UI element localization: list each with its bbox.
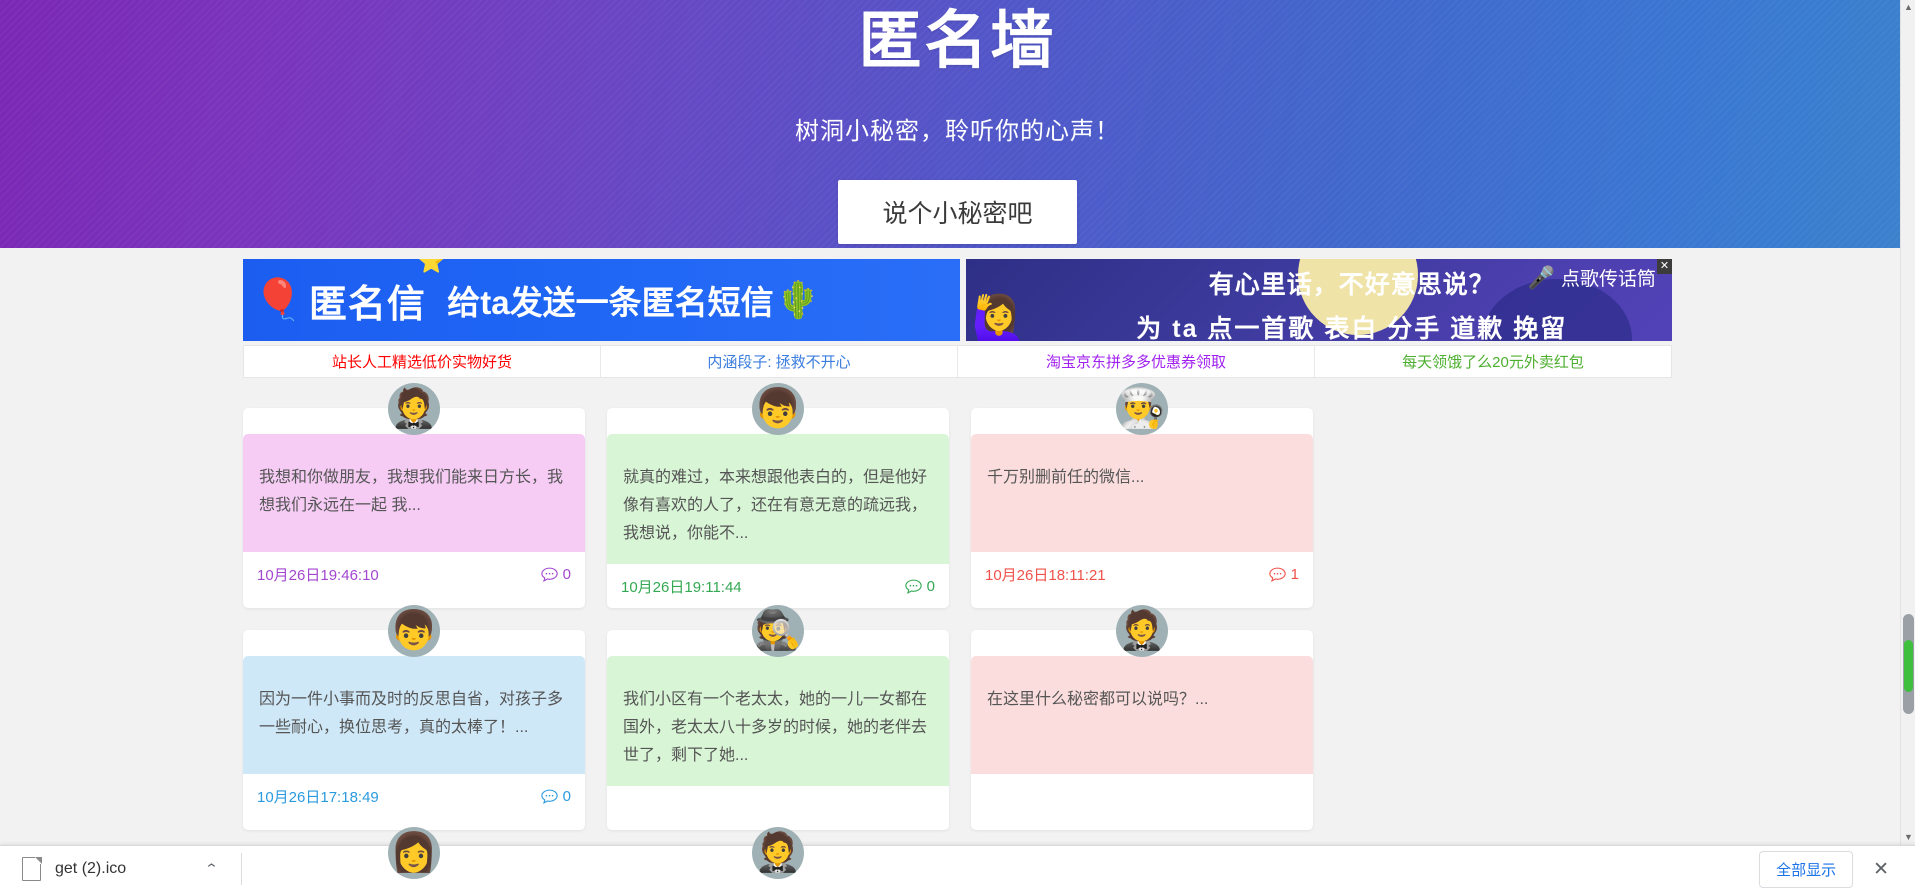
secret-card-text: 千万别删前任的微信... — [971, 434, 1313, 552]
star-icon: ⭐ — [418, 259, 445, 275]
man-sunglasses-avatar: 🕵️ — [752, 605, 804, 657]
ad-slogan-label: 给ta发送一条匿名短信 — [447, 276, 773, 324]
secret-card-timestamp: 10月26日18:11:21 — [985, 564, 1106, 585]
ad-brand-label: 匿名信 — [309, 273, 426, 328]
secret-card-grid: 🤵 我想和你做朋友，我想我们能来日方长，我想我们永远在一起 我...10月26日… — [243, 408, 1676, 892]
post-secret-button[interactable]: 说个小秘密吧 — [838, 180, 1076, 244]
man-bowtie-avatar: 🤵 — [388, 383, 440, 435]
secret-card-footer: 10月26日19:11:440 — [607, 564, 949, 608]
ad-mic-group: 🎤 点歌传话筒 — [1528, 264, 1656, 291]
close-download-bar-icon[interactable]: ✕ — [1867, 856, 1895, 883]
secret-card-timestamp: 10月26日19:11:44 — [621, 576, 742, 597]
show-all-downloads-button[interactable]: 全部显示 — [1759, 851, 1853, 888]
download-bar-actions: 全部显示 ✕ — [1759, 851, 1915, 888]
download-bar: get (2).ico ⌃ 全部显示 ✕ — [0, 845, 1915, 892]
secret-card[interactable]: 🤵 我想和你做朋友，我想我们能来日方长，我想我们永远在一起 我...10月26日… — [243, 408, 585, 608]
parachute-mail-icon: 🎈 — [253, 280, 303, 320]
ad-banner-song-dedication[interactable]: 🙋‍♀️ 有心里话，不好意思说？ 为 ta 点一首歌 表白 分手 道歉 挽留 🎤… — [966, 259, 1673, 341]
download-bar-divider — [241, 853, 242, 885]
page-subtitle: 树洞小秘密，聆听你的心声！ — [0, 111, 1915, 146]
chevron-up-icon[interactable]: ⌃ — [204, 861, 219, 877]
download-item[interactable]: get (2).ico ⌃ — [0, 846, 217, 892]
secret-card-footer — [607, 786, 949, 830]
secret-card-text: 我们小区有一个老太太，她的一儿一女都在国外，老太太八十多岁的时候，她的老伴去世了… — [607, 656, 949, 786]
comment-count: 0 — [927, 578, 935, 595]
ad-close-icon[interactable]: ✕ — [1657, 259, 1672, 274]
ad-banner-row: 🎈 匿名信 ⭐ 给ta发送一条匿名短信 🌵 🙋‍♀️ 有心里话，不好意思说？ 为… — [243, 259, 1672, 341]
ad-link-2[interactable]: 内涵段子: 拯救不开心 — [601, 346, 958, 377]
secret-card-text: 在这里什么秘密都可以说吗？... — [971, 656, 1313, 774]
ad-link-3[interactable]: 淘宝京东拼多多优惠券领取 — [958, 346, 1315, 377]
ad-link-4-label: 每天领饿了么20元外卖红包 — [1402, 351, 1584, 372]
comment-count-group[interactable]: 0 — [541, 566, 571, 583]
comment-count: 0 — [563, 788, 571, 805]
ad-link-1-label: 站长人工精选低价实物好货 — [332, 351, 512, 372]
secret-card-text: 就真的难过，本来想跟他表白的，但是他好像有喜欢的人了，还在有意无意的疏远我，我想… — [607, 434, 949, 564]
man-bowtie-avatar: 🤵 — [1116, 605, 1168, 657]
ad-subline: 为 ta 点一首歌 表白 分手 道歉 挽留 — [1042, 309, 1663, 341]
cactus-icon: 🌵 — [776, 279, 821, 321]
ad-link-4[interactable]: 每天领饿了么20元外卖红包 — [1315, 346, 1671, 377]
comment-count: 0 — [563, 566, 571, 583]
secret-card-footer — [971, 774, 1313, 818]
download-file-name: get (2).ico — [55, 860, 126, 878]
chef-avatar: 👨‍🍳 — [1116, 383, 1168, 435]
ad-link-row: 站长人工精选低价实物好货 内涵段子: 拯救不开心 淘宝京东拼多多优惠券领取 每天… — [243, 345, 1672, 378]
ad-zone: 🎈 匿名信 ⭐ 给ta发送一条匿名短信 🌵 🙋‍♀️ 有心里话，不好意思说？ 为… — [243, 259, 1672, 378]
comment-count-group[interactable]: 0 — [905, 578, 935, 595]
woman-avatar: 👩 — [388, 827, 440, 879]
page-root: 匿名墙 树洞小秘密，聆听你的心声！ 说个小秘密吧 🎈 匿名信 ⭐ 给ta发送一条… — [0, 0, 1915, 892]
ad-link-3-label: 淘宝京东拼多多优惠券领取 — [1046, 351, 1226, 372]
secret-card[interactable]: 🕵️我们小区有一个老太太，她的一儿一女都在国外，老太太八十多岁的时候，她的老伴去… — [607, 630, 949, 830]
scroll-down-arrow-icon[interactable]: ▼ — [1901, 830, 1915, 845]
ad-banner-anonymous-letter[interactable]: 🎈 匿名信 ⭐ 给ta发送一条匿名短信 🌵 — [243, 259, 960, 341]
comment-count-group[interactable]: 0 — [541, 788, 571, 805]
ad-link-1[interactable]: 站长人工精选低价实物好货 — [244, 346, 601, 377]
ad-link-2-label: 内涵段子: 拯救不开心 — [707, 351, 850, 372]
comment-bubble-icon — [1269, 567, 1286, 582]
secret-card[interactable]: 👦就真的难过，本来想跟他表白的，但是他好像有喜欢的人了，还在有意无意的疏远我，我… — [607, 408, 949, 608]
secret-card[interactable]: 🤵在这里什么秘密都可以说吗？... — [971, 630, 1313, 830]
comment-bubble-icon — [541, 567, 558, 582]
man-bowtie-avatar: 🤵 — [752, 827, 804, 879]
comment-bubble-icon — [905, 579, 922, 594]
secret-card-text: 我想和你做朋友，我想我们能来日方长，我想我们永远在一起 我... — [243, 434, 585, 552]
secret-card-footer: 10月26日18:11:211 — [971, 552, 1313, 596]
boy-avatar: 👦 — [388, 605, 440, 657]
comment-count: 1 — [1291, 566, 1299, 583]
secret-card[interactable]: 👨‍🍳千万别删前任的微信...10月26日18:11:211 — [971, 408, 1313, 608]
secret-card-timestamp: 10月26日19:46:10 — [257, 564, 379, 585]
secret-card-footer: 10月26日19:46:100 — [243, 552, 585, 596]
microphone-icon: 🎤 — [1528, 265, 1555, 291]
file-icon — [22, 857, 41, 881]
comment-bubble-icon — [541, 789, 558, 804]
scrollbar-find-marker — [1904, 640, 1913, 692]
hero-header: 匿名墙 树洞小秘密，聆听你的心声！ 说个小秘密吧 — [0, 0, 1915, 248]
secret-card-timestamp: 10月26日17:18:49 — [257, 786, 379, 807]
comment-count-group[interactable]: 1 — [1269, 566, 1299, 583]
secret-card-footer: 10月26日17:18:490 — [243, 774, 585, 818]
secret-card-text: 因为一件小事而及时的反思自省，对孩子多一些耐心，换位思考，真的太棒了！... — [243, 656, 585, 774]
boy-avatar: 👦 — [752, 383, 804, 435]
page-scrollbar[interactable]: ▲ ▼ — [1900, 0, 1915, 845]
secret-card[interactable]: 👦因为一件小事而及时的反思自省，对孩子多一些耐心，换位思考，真的太棒了！...1… — [243, 630, 585, 830]
ad-mic-label: 点歌传话筒 — [1561, 264, 1656, 291]
scroll-up-arrow-icon[interactable]: ▲ — [1901, 0, 1915, 15]
woman-reaching-icon: 🙋‍♀️ — [972, 297, 1027, 341]
page-title: 匿名墙 — [0, 10, 1915, 73]
